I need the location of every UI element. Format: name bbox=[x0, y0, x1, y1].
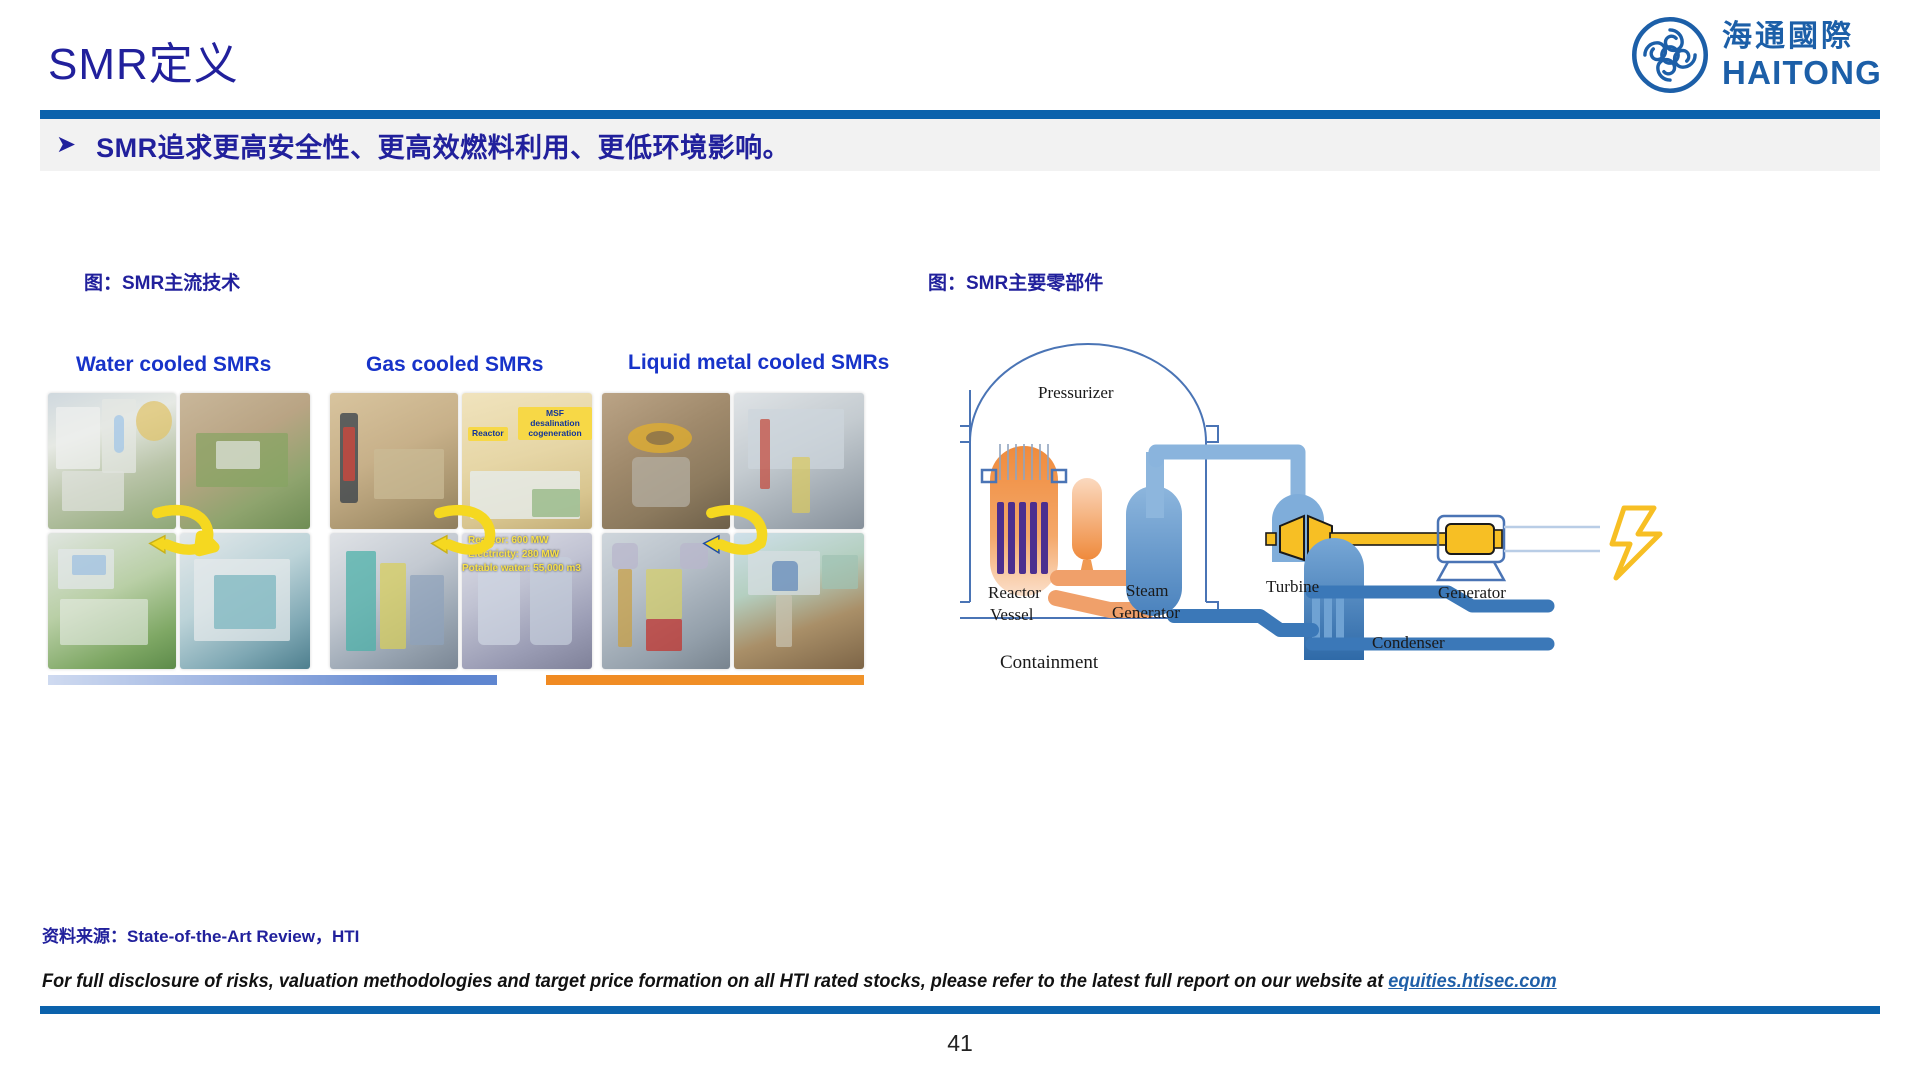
logo-wordmark: 海通國際 HAITONG bbox=[1722, 22, 1882, 89]
photo-liquid-metal-loop bbox=[602, 533, 730, 669]
photo-gas-site bbox=[330, 393, 458, 529]
figure-bottom-gradient-bar bbox=[48, 675, 864, 685]
reactor-schematic: Pressurizer Reactor Vessel Steam Generat… bbox=[960, 330, 1720, 730]
label-generator: Generator bbox=[1438, 583, 1506, 602]
label-steam-generator-2: Generator bbox=[1112, 603, 1180, 622]
tech-photo-group-water bbox=[48, 393, 310, 671]
disclaimer-text: For full disclosure of risks, valuation … bbox=[42, 970, 1716, 993]
photo-gas-desalination: Reactor MSF desalination cogeneration bbox=[462, 393, 592, 529]
source-line: 资料来源：State-of-the-Art Review，HTI bbox=[42, 922, 359, 947]
label-turbine: Turbine bbox=[1266, 577, 1319, 596]
spec-electricity: Electricity: 280 MW bbox=[468, 549, 559, 560]
footer-rule bbox=[40, 1006, 1880, 1014]
label-reactor-vessel-1: Reactor bbox=[988, 583, 1041, 602]
pressurizer-vessel bbox=[1072, 478, 1102, 574]
generator-assembly bbox=[1438, 516, 1600, 580]
banner-top-rule bbox=[40, 110, 1880, 119]
photo-water-plant-site bbox=[180, 393, 310, 529]
page-title: SMR定义 bbox=[48, 28, 239, 92]
photo-water-plant-aerial bbox=[48, 393, 176, 529]
tech-column-title-liquid: Liquid metal cooled SMRs bbox=[628, 351, 889, 375]
tech-column-title-gas: Gas cooled SMRs bbox=[366, 353, 543, 377]
photo-liquid-metal-cutaway bbox=[734, 393, 864, 529]
logo-chinese-name: 海通國際 bbox=[1722, 22, 1882, 52]
tech-photo-group-liquid-metal bbox=[602, 393, 864, 671]
logo-english-name: HAITONG bbox=[1722, 56, 1882, 89]
photo-liquid-metal-underground bbox=[734, 533, 864, 669]
callout-reactor-label: Reactor bbox=[468, 427, 508, 441]
cooling-return-line bbox=[1174, 616, 1312, 630]
label-condenser: Condenser bbox=[1372, 633, 1445, 652]
figure-caption-right: 图：SMR主要零部件 bbox=[928, 268, 1103, 295]
triangle-right-bullet-icon: ➤ bbox=[56, 133, 76, 157]
label-steam-generator-1: Steam bbox=[1126, 581, 1169, 600]
label-containment: Containment bbox=[1000, 652, 1099, 673]
photo-gas-reactor-cutaway bbox=[330, 533, 458, 669]
key-message-banner: ➤ SMR追求更高安全性、更高效燃料利用、更低环境影响。 bbox=[40, 119, 1880, 171]
lightning-bolt-icon bbox=[1612, 508, 1660, 578]
figure-smr-mainstream-technologies: Water cooled SMRs Gas cooled SMRs Liquid… bbox=[48, 345, 863, 705]
slide-header: SMR定义 海通國際 HAITONG bbox=[0, 0, 1920, 128]
tech-column-title-water: Water cooled SMRs bbox=[76, 353, 271, 377]
callout-msf-label: MSF desalination cogeneration bbox=[518, 407, 592, 440]
tech-photo-group-gas: Reactor MSF desalination cogeneration Re… bbox=[330, 393, 592, 671]
disclaimer-website-link[interactable]: equities.htisec.com bbox=[1388, 970, 1556, 992]
figure-caption-left: 图：SMR主流技术 bbox=[84, 268, 240, 295]
photo-liquid-metal-construction bbox=[602, 393, 730, 529]
spec-reactor-power: Reactor: 600 MW bbox=[468, 535, 549, 546]
disclaimer-prefix: For full disclosure of risks, valuation … bbox=[42, 970, 1388, 992]
photo-water-pool-cutaway bbox=[180, 533, 310, 669]
key-message-text: SMR追求更高安全性、更高效燃料利用、更低环境影响。 bbox=[96, 126, 790, 165]
label-pressurizer: Pressurizer bbox=[1038, 383, 1114, 402]
photo-water-plant-green bbox=[48, 533, 176, 669]
page-number: 41 bbox=[0, 1030, 1920, 1057]
brand-logo: 海通國際 HAITONG bbox=[1632, 16, 1882, 94]
spec-potable-water: Potable water: 55,000 m3 bbox=[462, 563, 581, 574]
label-reactor-vessel-2: Vessel bbox=[990, 605, 1034, 624]
figure-smr-main-components: Pressurizer Reactor Vessel Steam Generat… bbox=[960, 330, 1720, 730]
haitong-circular-emblem-icon bbox=[1632, 17, 1708, 93]
